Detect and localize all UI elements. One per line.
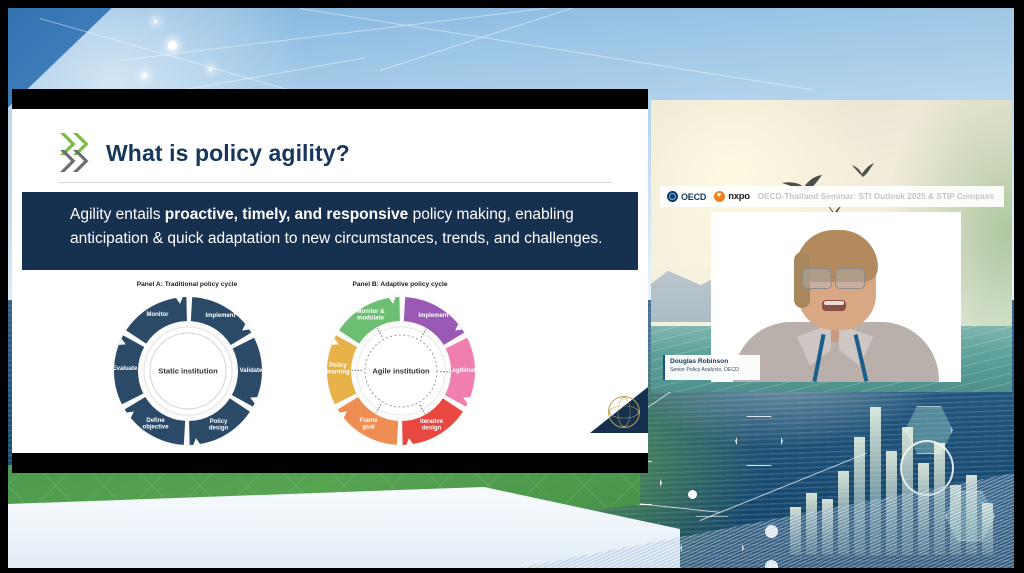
nxpo-label: nxpo [728, 191, 750, 202]
screen-frame-left [0, 0, 8, 573]
panel-b-hub-label: Agile institution [361, 366, 441, 375]
policy-cycle-segment-label: Legitimate [449, 368, 477, 374]
slide-letterbox-bottom [12, 453, 648, 473]
background-node-dot [142, 73, 147, 78]
seminar-title: OECD-Thailand Seminar: STI Outlook 2025 … [758, 192, 994, 201]
participant-video-tile[interactable]: OECD nxpo OECD-Thailand Seminar: STI Out… [651, 100, 1012, 392]
globe-logo-icon [608, 396, 640, 428]
background-node-dot [209, 68, 212, 71]
participant-role: Senior Policy Analysts, OECD [670, 367, 760, 373]
policy-cycle-segment-label: Policydesign [209, 419, 229, 432]
policy-cycle-segment-label: Implement [205, 313, 235, 319]
slide-title-row: What is policy agility? [58, 131, 350, 175]
panel-a-label: Panel A: Traditional policy cycle [87, 281, 287, 288]
panel-b-label: Panel B: Adaptive policy cycle [300, 281, 500, 288]
slide-letterbox-top [12, 89, 648, 109]
panel-a-wheel: ImplementValidatePolicydesignDefineobjec… [112, 295, 264, 447]
screen-frame-right [1014, 0, 1024, 573]
policy-cycle-segment-label: Iterativedesign [420, 419, 444, 432]
participant-teeth [824, 301, 844, 305]
policy-cycle-segment-label: Evaluate [113, 366, 138, 372]
screen-share-stage: What is policy agility? Agility entails … [0, 0, 1024, 573]
slide-content: What is policy agility? Agility entails … [12, 109, 648, 453]
background-node-dot [154, 20, 157, 23]
callout-bold: proactive, timely, and responsive [165, 206, 409, 223]
callout-lead: Agility entails [70, 206, 165, 223]
eyeglasses-bridge-icon [830, 276, 835, 278]
policy-cycle-segment-label: Policylearning [326, 363, 350, 376]
double-chevron-icon [58, 131, 92, 175]
participant-name-card: Douglas Robinson Senior Policy Analysts,… [663, 355, 760, 380]
callout-text: Agility entails proactive, timely, and r… [22, 192, 638, 250]
screen-frame-top [0, 0, 1024, 8]
title-divider [58, 182, 612, 183]
policy-cycle-figure: Panel A: Traditional policy cycle Implem… [12, 279, 648, 453]
participant-name: Douglas Robinson [670, 358, 760, 366]
policy-cycle-segment-label: Monitor [146, 312, 169, 318]
eyeglasses-left-lens-icon [802, 268, 832, 289]
page-title: What is policy agility? [106, 140, 350, 167]
callout-box: Agility entails proactive, timely, and r… [22, 192, 638, 270]
seminar-header-bar: OECD nxpo OECD-Thailand Seminar: STI Out… [660, 186, 1004, 207]
nxpo-logo: nxpo [714, 191, 750, 202]
policy-cycle-segment-label: Validate [240, 368, 263, 374]
screen-frame-bottom [0, 568, 1024, 573]
nxpo-bolt-icon [714, 191, 725, 202]
eyeglasses-right-lens-icon [835, 268, 865, 289]
policy-cycle-segment-label: Implement [418, 313, 448, 319]
bird-icon [851, 162, 875, 178]
background-node-dot [168, 41, 177, 50]
policy-cycle-segment-label: Monitor &modulate [356, 309, 385, 322]
panel-b-wheel: ImplementLegitimateIterativedesignFrameg… [325, 295, 477, 447]
oecd-label: OECD [681, 192, 706, 202]
shared-slide[interactable]: What is policy agility? Agility entails … [12, 89, 648, 473]
oecd-globe-icon [667, 191, 678, 202]
oecd-logo: OECD [667, 191, 706, 202]
panel-a-hub-label: Static institution [148, 366, 228, 375]
background-node-dot [688, 490, 697, 499]
